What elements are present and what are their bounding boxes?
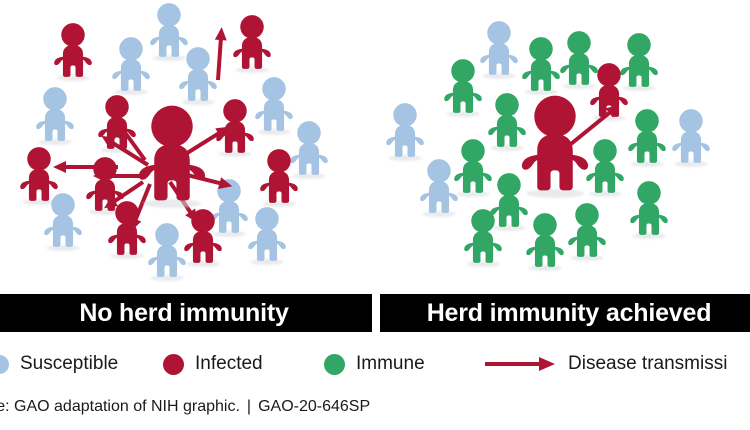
legend-label-immune: Immune — [356, 353, 425, 375]
person-figure-immune — [462, 208, 504, 272]
legend-label-transmission: Disease transmissi — [568, 353, 727, 375]
legend: Susceptible Infected Immune Disease tran… — [0, 348, 750, 380]
source-note: urce: GAO adaptation of NIH graphic.|GAO… — [0, 398, 750, 416]
person-figure-susceptible — [110, 36, 152, 100]
panel-no-herd-immunity — [0, 0, 375, 292]
person-figure-susceptible — [478, 20, 520, 84]
panel-herd-immunity-achieved — [375, 0, 750, 292]
banner-left-label: No herd immunity — [79, 299, 288, 328]
green-circle-swatch-icon — [324, 354, 345, 375]
infographic-root: No herd immunity Herd immunity achieved … — [0, 0, 750, 430]
person-figure-infected — [135, 104, 209, 210]
person-figure-immune — [524, 212, 566, 276]
transmission-arrow — [218, 28, 222, 80]
legend-item-transmission: Disease transmissi — [485, 348, 727, 380]
person-figure-immune — [442, 58, 484, 122]
blue-circle-swatch-icon — [0, 355, 9, 374]
person-figure-infected — [588, 62, 630, 126]
legend-item-infected: Infected — [163, 348, 263, 380]
person-figure-susceptible — [42, 192, 84, 256]
person-figure-susceptible — [246, 206, 288, 270]
source-separator: | — [240, 398, 258, 415]
person-figure-susceptible — [670, 108, 712, 172]
person-figure-immune — [628, 180, 670, 244]
banner-herd-immunity-achieved: Herd immunity achieved — [380, 294, 750, 332]
person-figure-susceptible — [384, 102, 426, 166]
person-figure-susceptible — [177, 46, 219, 110]
person-figure-infected — [52, 22, 94, 86]
arrow-right-icon — [485, 358, 555, 370]
person-figure-infected — [518, 94, 592, 200]
red-circle-swatch-icon — [163, 354, 184, 375]
person-figure-infected — [258, 148, 300, 212]
person-figure-immune — [626, 108, 668, 172]
person-figure-susceptible — [418, 158, 460, 222]
person-figure-immune — [520, 36, 562, 100]
banner-no-herd-immunity: No herd immunity — [0, 294, 372, 332]
banner-right-label: Herd immunity achieved — [421, 299, 712, 328]
legend-item-susceptible: Susceptible — [0, 348, 118, 380]
report-id: GAO-20-646SP — [258, 398, 370, 415]
person-figure-infected — [231, 14, 273, 78]
legend-item-immune: Immune — [324, 348, 425, 380]
person-figure-immune — [566, 202, 608, 266]
person-figure-susceptible — [34, 86, 76, 150]
legend-label-susceptible: Susceptible — [20, 353, 118, 375]
source-text: urce: GAO adaptation of NIH graphic. — [0, 398, 240, 415]
legend-label-infected: Infected — [195, 353, 263, 375]
